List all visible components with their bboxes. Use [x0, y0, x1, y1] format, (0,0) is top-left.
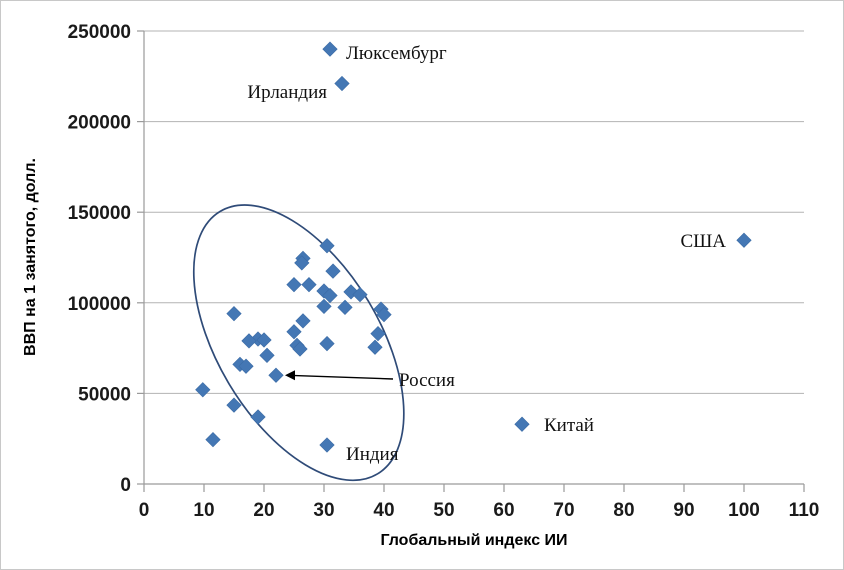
- x-tick-labels-group: 0102030405060708090100110: [139, 500, 820, 521]
- y-tick-label-50000: 50000: [78, 384, 131, 405]
- annotations-group: ЛюксембургИрландияСШАКитайИндияРоссия: [247, 43, 726, 465]
- gridlines-group: [144, 31, 804, 393]
- label-china: Китай: [544, 415, 594, 436]
- x-tick-label-0: 0: [139, 500, 150, 521]
- data-point-11: [302, 277, 316, 291]
- y-axis-title: ВВП на 1 занятого, долл.: [22, 158, 39, 356]
- data-point-9: [326, 264, 340, 278]
- x-tick-label-110: 110: [789, 500, 820, 521]
- data-point-34: [196, 383, 210, 397]
- data-point-3-Китай: [515, 417, 529, 431]
- data-point-6: [320, 239, 334, 253]
- x-tick-label-60: 60: [493, 500, 514, 521]
- russia-arrowhead: [285, 370, 295, 380]
- y-tick-label-250000: 250000: [68, 22, 131, 43]
- x-axis-title: Глобальный индекс ИИ: [380, 532, 567, 549]
- data-point-30: [260, 348, 274, 362]
- x-tick-label-70: 70: [553, 500, 574, 521]
- data-point-4-Индия: [320, 438, 334, 452]
- data-point-17: [338, 300, 352, 314]
- data-point-1-Ирландия: [335, 76, 349, 90]
- label-india: Индия: [346, 444, 399, 465]
- y-tick-label-100000: 100000: [68, 294, 131, 315]
- data-point-2-США: [737, 233, 751, 247]
- russia-leader-line: [288, 375, 393, 379]
- x-tick-label-90: 90: [673, 500, 694, 521]
- y-tick-label-200000: 200000: [68, 113, 131, 134]
- y-tick-labels-group: 050000100000150000200000250000: [68, 22, 131, 496]
- x-tick-label-40: 40: [373, 500, 394, 521]
- scatter-chart: 050000100000150000200000250000 010203040…: [1, 1, 844, 570]
- label-luxembourg: Люксембург: [346, 43, 447, 64]
- label-russia: Россия: [399, 370, 455, 391]
- axes-group: [137, 31, 804, 492]
- x-tick-label-50: 50: [433, 500, 454, 521]
- label-usa: США: [680, 231, 726, 252]
- data-point-20: [227, 306, 241, 320]
- y-tick-label-150000: 150000: [68, 203, 131, 224]
- data-point-5-Россия: [269, 368, 283, 382]
- data-point-21: [296, 314, 310, 328]
- x-tick-label-100: 100: [728, 500, 760, 521]
- x-tick-label-30: 30: [313, 500, 334, 521]
- data-point-0-Люксембург: [323, 42, 337, 56]
- data-point-24: [287, 325, 301, 339]
- label-ireland: Ирландия: [247, 82, 327, 103]
- x-tick-label-10: 10: [193, 500, 214, 521]
- y-tick-label-0: 0: [120, 475, 131, 496]
- data-point-37: [206, 432, 220, 446]
- data-point-22: [320, 336, 334, 350]
- data-point-36: [251, 410, 265, 424]
- data-point-33: [368, 340, 382, 354]
- chart-container: 050000100000150000200000250000 010203040…: [0, 0, 844, 570]
- data-points-group: [196, 42, 752, 452]
- x-tick-label-20: 20: [253, 500, 274, 521]
- data-point-10: [287, 277, 301, 291]
- x-tick-label-80: 80: [613, 500, 634, 521]
